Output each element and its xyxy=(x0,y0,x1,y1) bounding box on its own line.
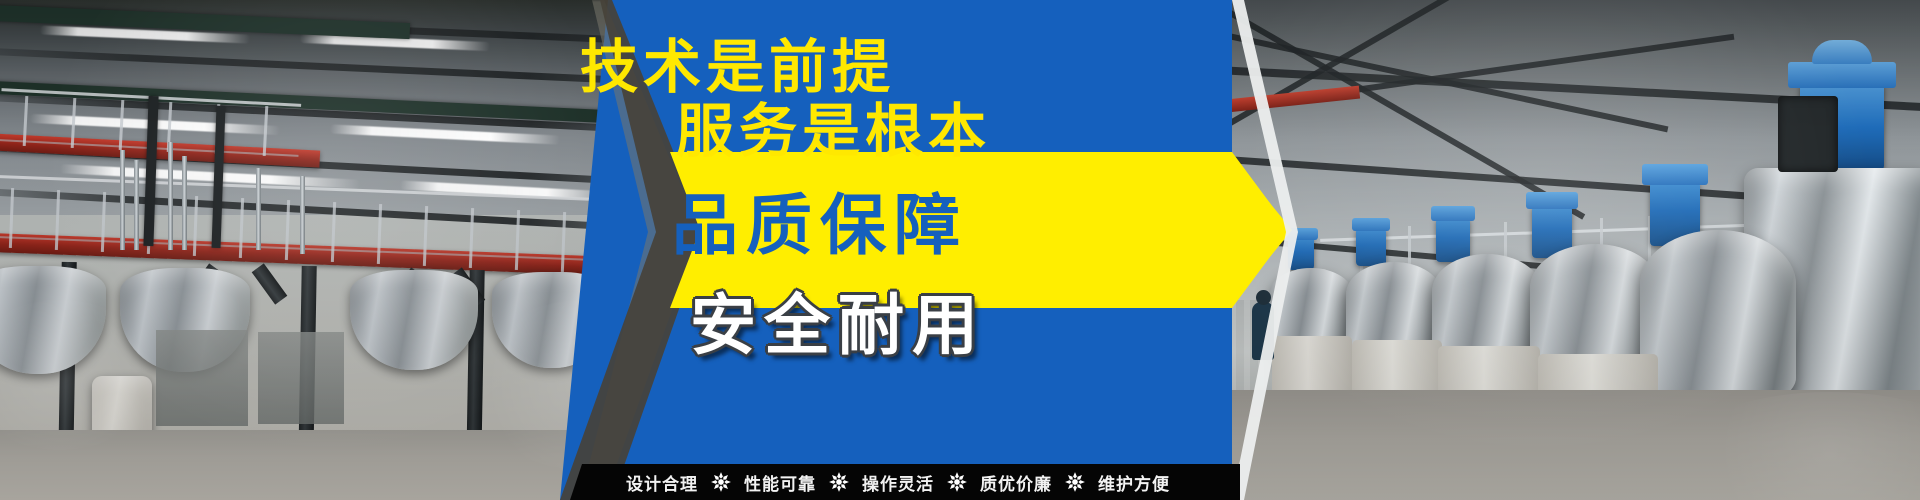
left-factory-photo xyxy=(0,0,660,500)
right-factory-photo xyxy=(1160,0,1920,500)
flower-gear-icon xyxy=(944,469,970,495)
flower-gear-icon xyxy=(708,469,734,495)
promotional-banner: 技术是前提 服务是根本 品质保障 安全耐用 设计合理性能可靠操作灵活质优价廉维护… xyxy=(0,0,1920,500)
feature-strip-label: 设计合理 xyxy=(616,470,708,495)
worker-silhouette xyxy=(1252,302,1274,360)
flower-gear-icon xyxy=(826,469,852,495)
sight-glass xyxy=(1778,96,1838,172)
feature-strip-label: 性能可靠 xyxy=(734,470,826,495)
quality-highlight-text: 品质保障 xyxy=(672,172,968,268)
feature-strip-items: 设计合理性能可靠操作灵活质优价廉维护方便 xyxy=(556,464,1240,500)
flower-gear-icon xyxy=(1062,469,1088,495)
feature-strip-label: 维护方便 xyxy=(1088,470,1180,495)
feature-strip-label: 操作灵活 xyxy=(852,470,944,495)
durability-subline-text: 安全耐用 xyxy=(690,272,986,368)
feature-strip-label: 质优价廉 xyxy=(970,470,1062,495)
worker-head xyxy=(1256,290,1271,305)
headline-line-2: 服务是根本 xyxy=(676,84,991,168)
